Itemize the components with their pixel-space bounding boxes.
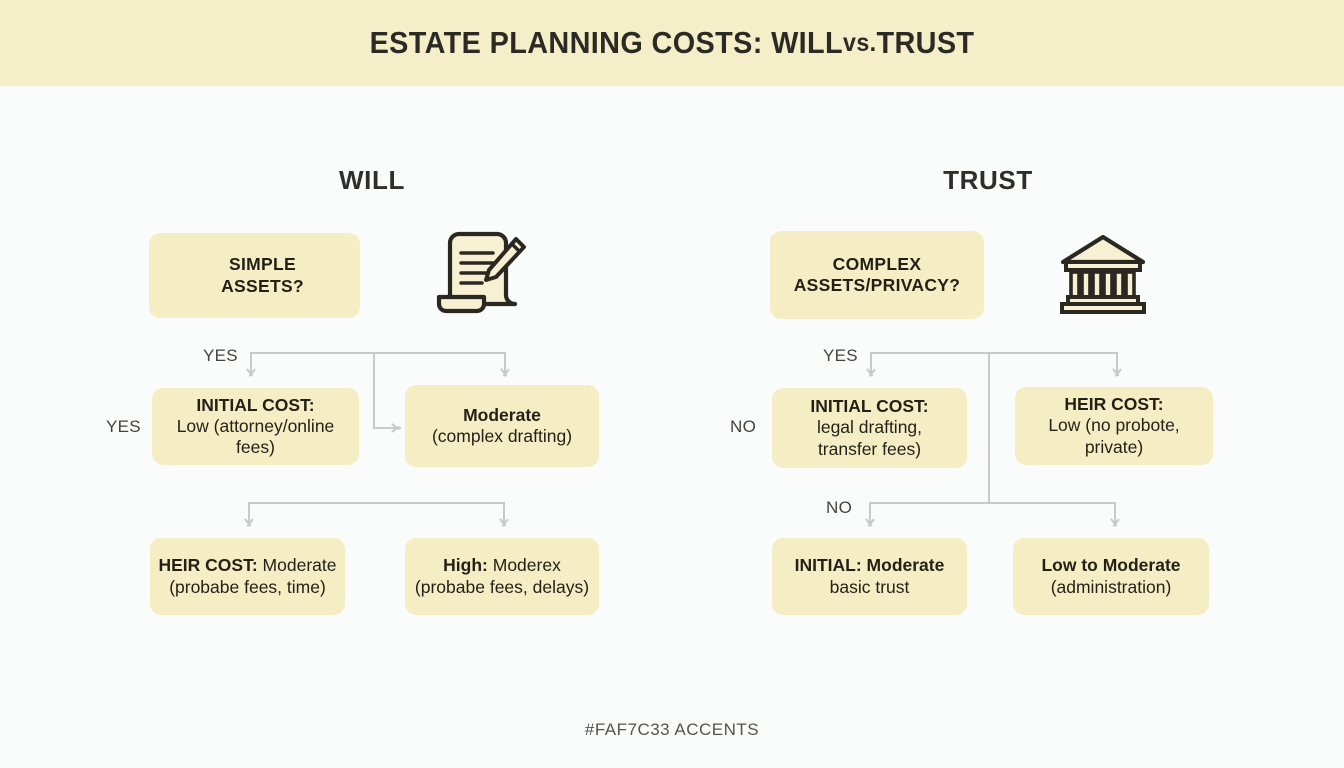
outcome-box-will-initial-cost[interactable]: INITIAL COST: Low (attorney/online fees) [152, 388, 359, 465]
box-bold-label: INITIAL COST: [196, 395, 314, 415]
box-line-1: SIMPLE [229, 254, 296, 275]
flow-label-will-yes-top: YES [203, 346, 238, 366]
box-bold-label: HEIR COST: [1064, 394, 1163, 414]
box-line-3: transfer fees) [818, 439, 921, 460]
connector-trust-lower-bar [869, 502, 1116, 504]
outcome-box-trust-heir-cost[interactable]: HEIR COST: Low (no probote, private) [1015, 387, 1213, 465]
footer-note: #FAF7C33 ACCENTS [0, 720, 1344, 740]
outcome-box-trust-initial-moderate[interactable]: INITIAL: Moderate basic trust [772, 538, 967, 615]
connector-will-upper-bar [250, 352, 506, 354]
box-bold-label: HEIR COST: [159, 555, 258, 575]
outcome-box-will-heir-cost[interactable]: HEIR COST: Moderate (probabe fees, time) [150, 538, 345, 615]
box-bold-label: INITIAL: Moderate [795, 555, 945, 575]
connector-will-elbow-vertical [373, 352, 375, 428]
arrowhead-down-trust-mid-right [1111, 369, 1122, 380]
box-bold-label: Moderate [463, 405, 541, 425]
connector-trust-central-trunk [988, 352, 990, 502]
outcome-box-trust-low-to-moderate[interactable]: Low to Moderate (administration) [1013, 538, 1209, 615]
box-line-2: ASSETS? [221, 276, 304, 297]
decision-box-trust-root[interactable]: COMPLEX ASSETS/PRIVACY? [770, 231, 984, 319]
arrowhead-down-trust-mid-left [865, 369, 876, 380]
arrowhead-down-trust-bot-left [864, 519, 875, 530]
arrowhead-down-will-bot-left [243, 519, 254, 530]
arrowhead-down-trust-bot-right [1109, 519, 1120, 530]
flow-label-trust-no-side: NO [730, 417, 756, 437]
scroll-pencil-icon [430, 231, 534, 319]
outcome-box-trust-initial-cost[interactable]: INITIAL COST: legal drafting, transfer f… [772, 388, 967, 468]
outcome-box-will-high[interactable]: High: Moderex (probabe fees, delays) [405, 538, 599, 615]
box-line-2: Low (no probote, private) [1023, 415, 1205, 457]
connector-trust-upper-bar [870, 352, 1118, 354]
box-bold-label: High: [443, 555, 488, 575]
page-title-vs: vs. [843, 29, 876, 58]
column-heading-trust: TRUST [888, 165, 1088, 196]
decision-box-will-root[interactable]: SIMPLE ASSETS? [149, 233, 360, 318]
column-heading-will: WILL [272, 165, 472, 196]
box-line-2: Low (attorney/online fees) [160, 416, 351, 458]
box-bold-label: Low to Moderate [1041, 555, 1180, 575]
outcome-box-will-moderate[interactable]: Moderate (complex drafting) [405, 385, 599, 467]
connector-will-lower-bar [248, 502, 504, 504]
infographic-canvas: ESTATE PLANNING COSTS: WILL vs. TRUST WI… [0, 0, 1344, 768]
arrowhead-down-will-bot-right [498, 519, 509, 530]
box-bold-rest: Moderex [488, 555, 561, 575]
box-line-1: COMPLEX [833, 254, 922, 275]
arrowhead-down-will-mid-right [499, 369, 510, 380]
box-bold-label: INITIAL COST: [810, 396, 928, 416]
page-title: ESTATE PLANNING COSTS: WILL vs. TRUST [47, 0, 1297, 86]
arrowhead-down-will-mid-left [245, 369, 256, 380]
flow-label-trust-yes-top: YES [823, 346, 858, 366]
flow-label-will-yes-side: YES [106, 417, 141, 437]
box-line-2: (probabe fees, delays) [415, 577, 589, 598]
page-title-main: ESTATE PLANNING COSTS: WILL [370, 25, 843, 61]
flow-label-trust-no-mid: NO [826, 498, 852, 518]
box-bold-rest: Moderate [258, 555, 337, 575]
bank-columns-icon [1057, 232, 1149, 316]
page-title-tail: TRUST [876, 25, 974, 61]
box-line-2: (probabe fees, time) [169, 577, 326, 598]
box-line-2: ASSETS/PRIVACY? [794, 275, 961, 296]
box-line-2: (administration) [1051, 577, 1172, 598]
arrowhead-right-will-moderate [392, 422, 403, 433]
box-line-2: basic trust [830, 577, 910, 598]
box-line-2: legal drafting, [817, 417, 922, 438]
box-line-2: (complex drafting) [432, 426, 572, 447]
